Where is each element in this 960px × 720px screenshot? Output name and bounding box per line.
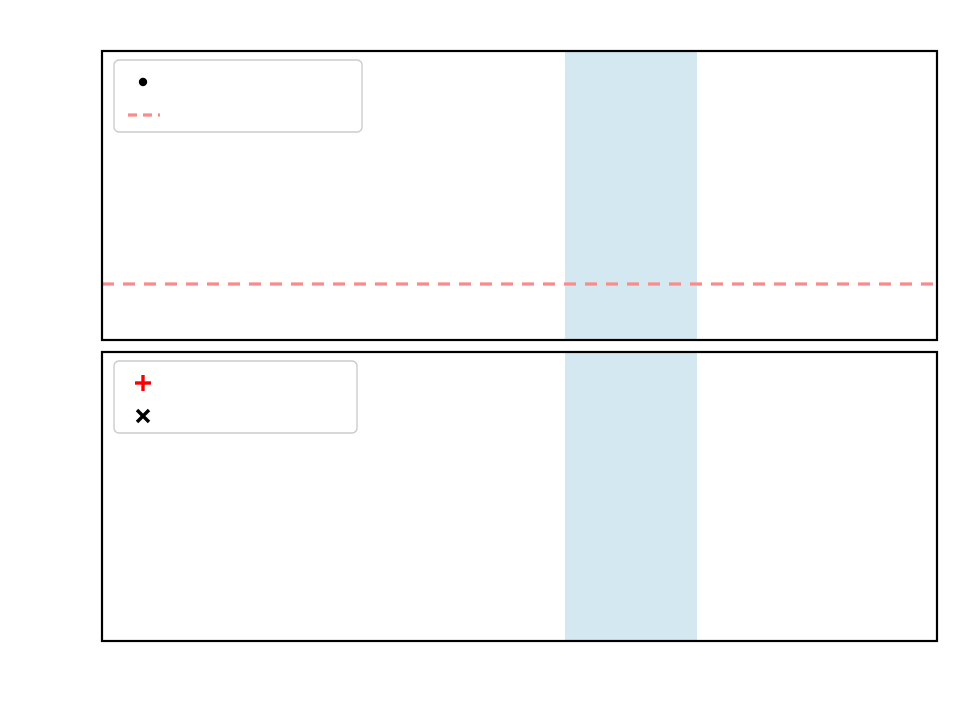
shaded-time-span-top — [565, 51, 697, 340]
top-legend-box — [114, 60, 362, 132]
chart-svg — [0, 0, 960, 720]
shaded-time-span-bottom — [565, 352, 697, 641]
top-panel-legend — [114, 60, 362, 132]
bottom-legend-box — [114, 361, 357, 433]
measurements-marker-icon — [139, 78, 147, 86]
figure-canvas — [0, 0, 960, 720]
bottom-panel-legend — [114, 361, 357, 433]
